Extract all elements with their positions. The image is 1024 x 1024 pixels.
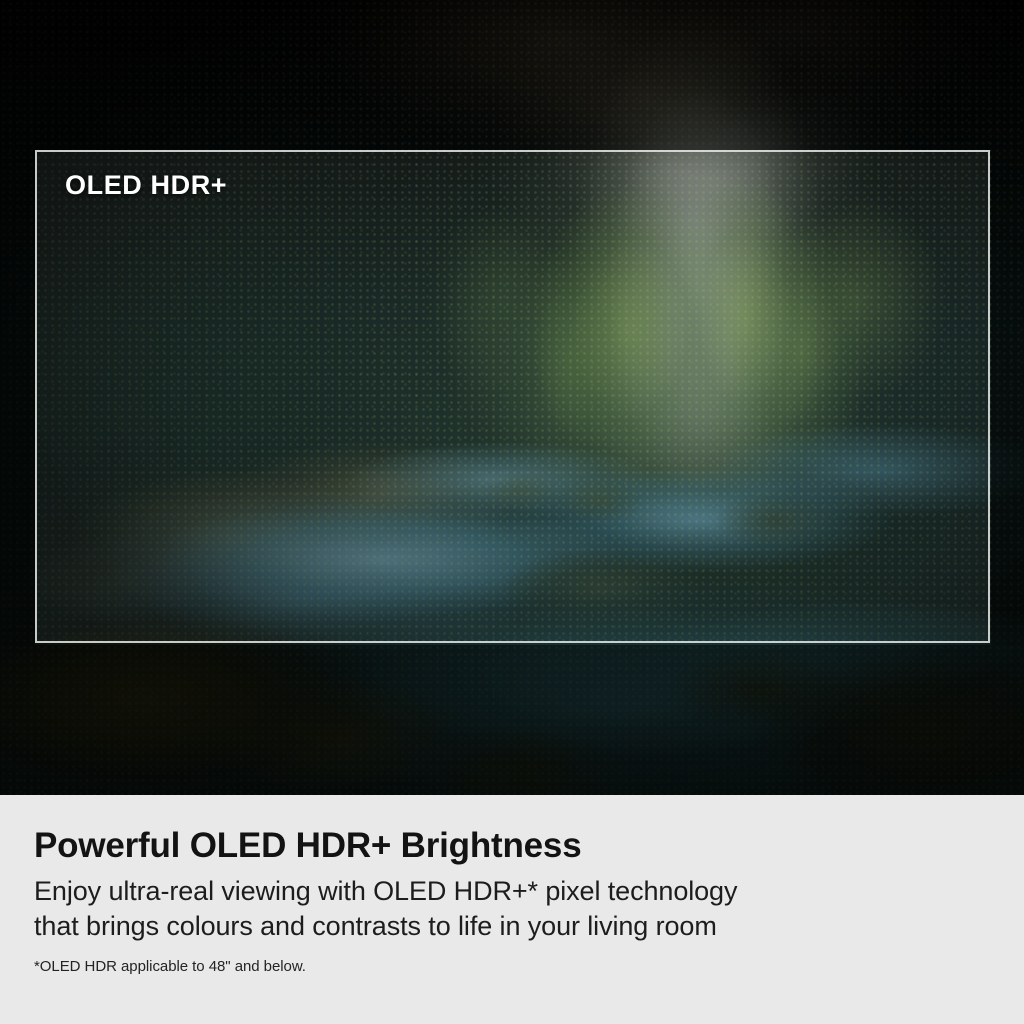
dim-region-top bbox=[0, 0, 1024, 150]
hero-photo: OLED HDR+ bbox=[0, 0, 1024, 795]
body-line-1: Enjoy ultra-real viewing with OLED HDR+*… bbox=[34, 874, 990, 909]
body-line-2: that brings colours and contrasts to lif… bbox=[34, 909, 990, 944]
dim-region-right bbox=[991, 150, 1024, 645]
oled-hdr-badge: OLED HDR+ bbox=[65, 170, 227, 201]
footnote: *OLED HDR applicable to 48" and below. bbox=[34, 958, 990, 975]
dim-region-bottom bbox=[0, 645, 1024, 795]
product-feature-page: OLED HDR+ Powerful OLED HDR+ Brightness … bbox=[0, 0, 1024, 1024]
panel-content: Powerful OLED HDR+ Brightness Enjoy ultr… bbox=[0, 795, 1024, 975]
page-title: Powerful OLED HDR+ Brightness bbox=[34, 827, 990, 865]
feature-text-panel: Powerful OLED HDR+ Brightness Enjoy ultr… bbox=[0, 795, 1024, 1024]
dim-region-left bbox=[0, 150, 35, 645]
